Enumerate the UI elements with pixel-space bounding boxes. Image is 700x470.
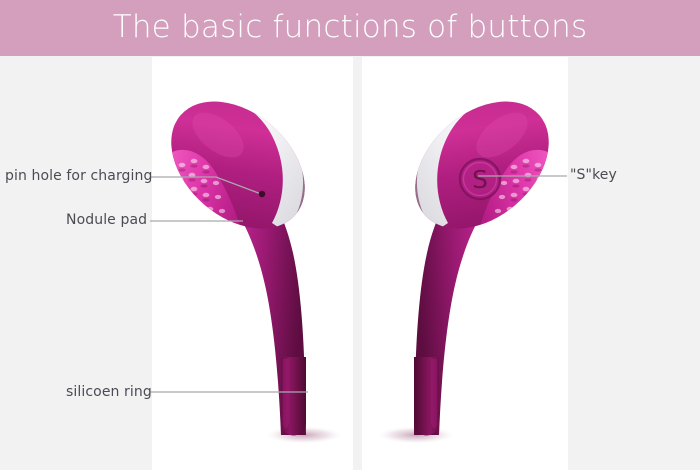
callout-label-s-key: "S"key <box>570 167 617 183</box>
device-back-view: S <box>362 57 568 470</box>
charging-pin-hole <box>259 191 265 197</box>
callout-label-pin-hole: pin hole for charging <box>5 168 153 184</box>
callout-label-nodule-pad: Nodule pad <box>66 212 147 228</box>
device-front-view <box>152 57 353 470</box>
page-title: The basic functions of buttons <box>0 0 700 56</box>
s-key-button[interactable]: S <box>460 159 500 199</box>
stem-highlight <box>283 359 289 429</box>
s-key-glyph: S <box>472 165 488 194</box>
header-band: The basic functions of buttons <box>0 0 700 56</box>
product-panel-front <box>152 57 353 470</box>
infographic-page: The basic functions of buttons <box>0 0 700 470</box>
stem-highlight <box>431 359 437 429</box>
callout-label-silicone-ring: silicoen ring <box>66 384 152 400</box>
product-panel-back: S <box>362 57 568 470</box>
